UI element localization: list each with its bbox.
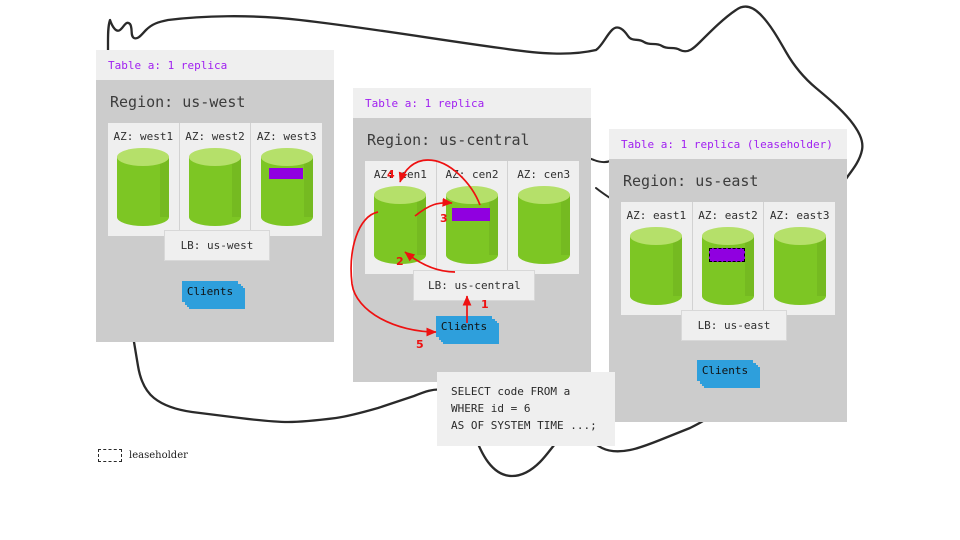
arrow-step-number-4: 4 [387,168,395,181]
region-replica-title: Table a: 1 replica [96,50,334,80]
cylinder-top [518,186,570,204]
node-cylinder-cen2[interactable] [446,186,498,264]
az-label: AZ: cen1 [374,168,427,181]
cylinder-shading [160,157,169,217]
region-name-label: Region: us-central [365,118,579,161]
az-cell-west3[interactable]: AZ: west3 [251,123,322,236]
clients-label[interactable]: Clients [182,281,238,302]
az-label: AZ: cen2 [446,168,499,181]
cylinder-top [702,227,754,245]
cylinder-top [774,227,826,245]
arrow-step-number-1: 1 [481,298,489,311]
az-cell-west2[interactable]: AZ: west2 [180,123,252,236]
cylinder-shading [304,157,313,217]
region-name-label: Region: us-west [108,80,322,123]
legend-leaseholder: leaseholder [98,449,188,462]
az-label: AZ: east3 [770,209,830,222]
load-balancer-us-west[interactable]: LB: us-west [164,230,270,261]
cylinder-shading [561,195,570,255]
az-cell-east3[interactable]: AZ: east3 [764,202,835,315]
node-cylinder-west3[interactable] [261,148,313,226]
replica-marker-west3[interactable] [269,168,303,179]
clients-stack-us-central[interactable]: Clients [436,316,500,344]
az-label: AZ: west3 [257,130,317,143]
region-replica-title: Table a: 1 replica (leaseholder) [609,129,847,159]
node-cylinder-cen1[interactable] [374,186,426,264]
legend-label: leaseholder [129,450,188,461]
az-cell-west1[interactable]: AZ: west1 [108,123,180,236]
az-label: AZ: west1 [114,130,174,143]
cylinder-top [261,148,313,166]
node-cylinder-east2[interactable] [702,227,754,305]
cylinder-top [374,186,426,204]
az-label: AZ: cen3 [517,168,570,181]
cylinder-top [117,148,169,166]
arrow-step-number-5: 5 [416,338,424,351]
az-cell-cen3[interactable]: AZ: cen3 [508,161,579,274]
cylinder-shading [673,236,682,296]
replica-marker-cen2[interactable] [452,208,490,221]
az-label: AZ: east2 [698,209,758,222]
region-name-label: Region: us-east [621,159,835,202]
arrow-step-number-3: 3 [440,212,448,225]
replica-marker-leaseholder-east2[interactable] [709,248,745,262]
node-cylinder-cen3[interactable] [518,186,570,264]
region-panel-us-central: Table a: 1 replica Region: us-central AZ… [353,88,591,382]
node-cylinder-east3[interactable] [774,227,826,305]
leaseholder-swatch-icon [98,449,122,462]
load-balancer-us-east[interactable]: LB: us-east [681,310,787,341]
load-balancer-us-central[interactable]: LB: us-central [413,270,535,301]
node-cylinder-west1[interactable] [117,148,169,226]
cylinder-top [189,148,241,166]
cylinder-top [630,227,682,245]
cylinder-shading [232,157,241,217]
cylinder-shading [817,236,826,296]
cylinder-shading [417,195,426,255]
sql-query-box: SELECT code FROM a WHERE id = 6 AS OF SY… [437,372,615,446]
cylinder-shading [489,195,498,255]
node-cylinder-east1[interactable] [630,227,682,305]
az-cell-east2[interactable]: AZ: east2 [693,202,765,315]
az-label: AZ: west2 [185,130,245,143]
clients-label[interactable]: Clients [697,360,753,381]
region-panel-us-east: Table a: 1 replica (leaseholder) Region:… [609,129,847,422]
diagram-canvas: Table a: 1 replica Region: us-west AZ: w… [0,0,960,540]
clients-stack-us-west[interactable]: Clients [182,281,246,309]
az-row: AZ: east1 AZ: east2 [621,202,835,315]
az-label: AZ: east1 [627,209,687,222]
clients-stack-us-east[interactable]: Clients [697,360,761,388]
region-replica-title: Table a: 1 replica [353,88,591,118]
region-panel-us-west: Table a: 1 replica Region: us-west AZ: w… [96,50,334,342]
az-cell-east1[interactable]: AZ: east1 [621,202,693,315]
clients-label[interactable]: Clients [436,316,492,337]
arrow-step-number-2: 2 [396,255,404,268]
cylinder-shading [745,236,754,296]
az-row: AZ: west1 AZ: west2 [108,123,322,236]
cylinder-top [446,186,498,204]
node-cylinder-west2[interactable] [189,148,241,226]
